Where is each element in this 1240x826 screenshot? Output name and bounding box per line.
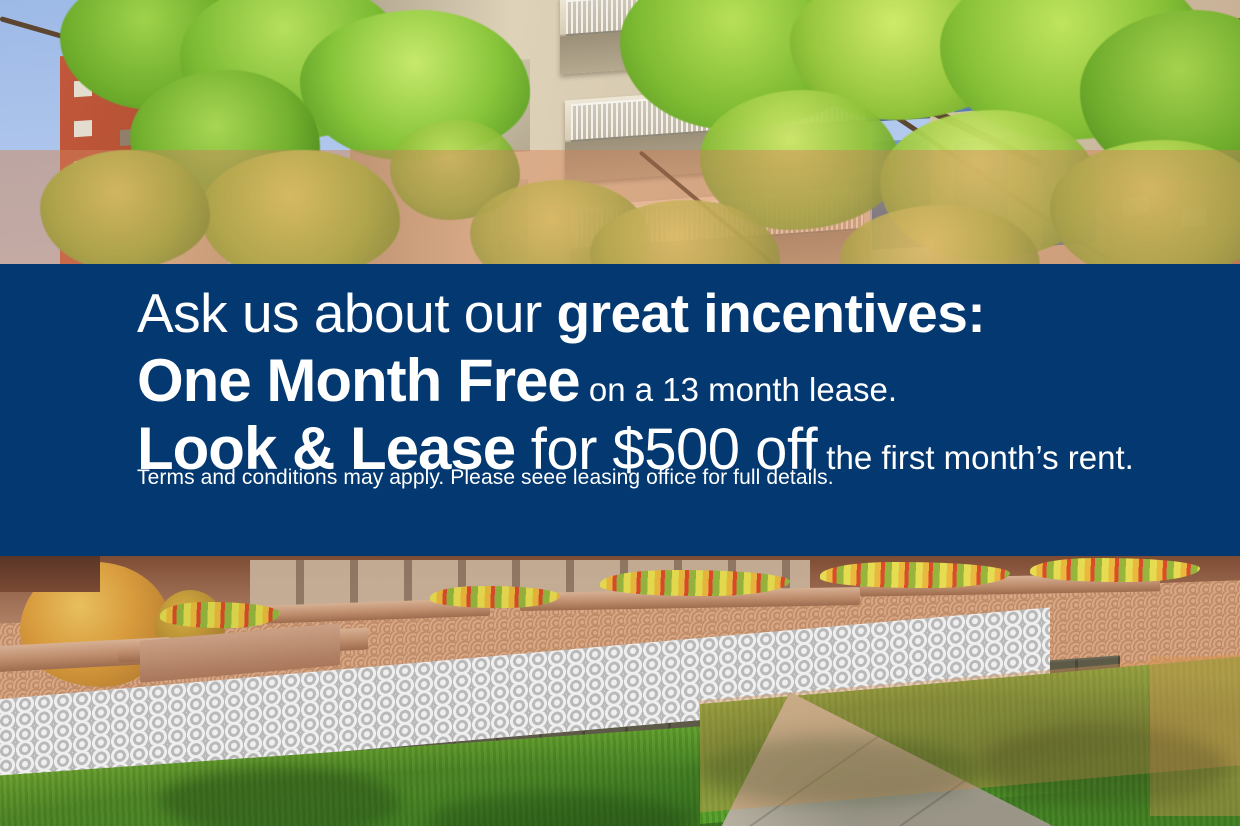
flower-bed	[600, 570, 790, 596]
promo-banner: Ask us about our great incentives: One M…	[0, 0, 1240, 826]
photo-top-apartment-building	[0, 0, 1240, 264]
tree-shadow	[980, 726, 1230, 806]
flower-bed	[160, 602, 280, 628]
fineprint-disclaimer: Terms and conditions may apply. Please s…	[137, 466, 834, 490]
blue-message-panel: Ask us about our great incentives: One M…	[0, 264, 1240, 556]
offer-look-and-lease-terms: the first month’s rent.	[817, 439, 1134, 476]
headline-line-2: One Month Free on a 13 month lease.	[137, 351, 1187, 411]
foliage	[40, 150, 210, 264]
tree-shadow	[700, 736, 980, 806]
flower-bed	[1030, 558, 1200, 582]
offer-one-month-free-terms: on a 13 month lease.	[580, 371, 897, 408]
building-corner-left	[0, 556, 100, 592]
flower-bed	[820, 562, 1010, 588]
headline-line1-regular: Ask us about our	[137, 282, 557, 344]
headline-copy-block: Ask us about our great incentives: One M…	[137, 280, 1187, 479]
headline-line-1: Ask us about our great incentives:	[137, 286, 1187, 341]
offer-one-month-free: One Month Free	[137, 347, 580, 414]
flower-bed	[430, 586, 560, 608]
headline-line1-bold: great incentives:	[557, 282, 986, 344]
photo-bottom-courtyard	[0, 556, 1240, 826]
